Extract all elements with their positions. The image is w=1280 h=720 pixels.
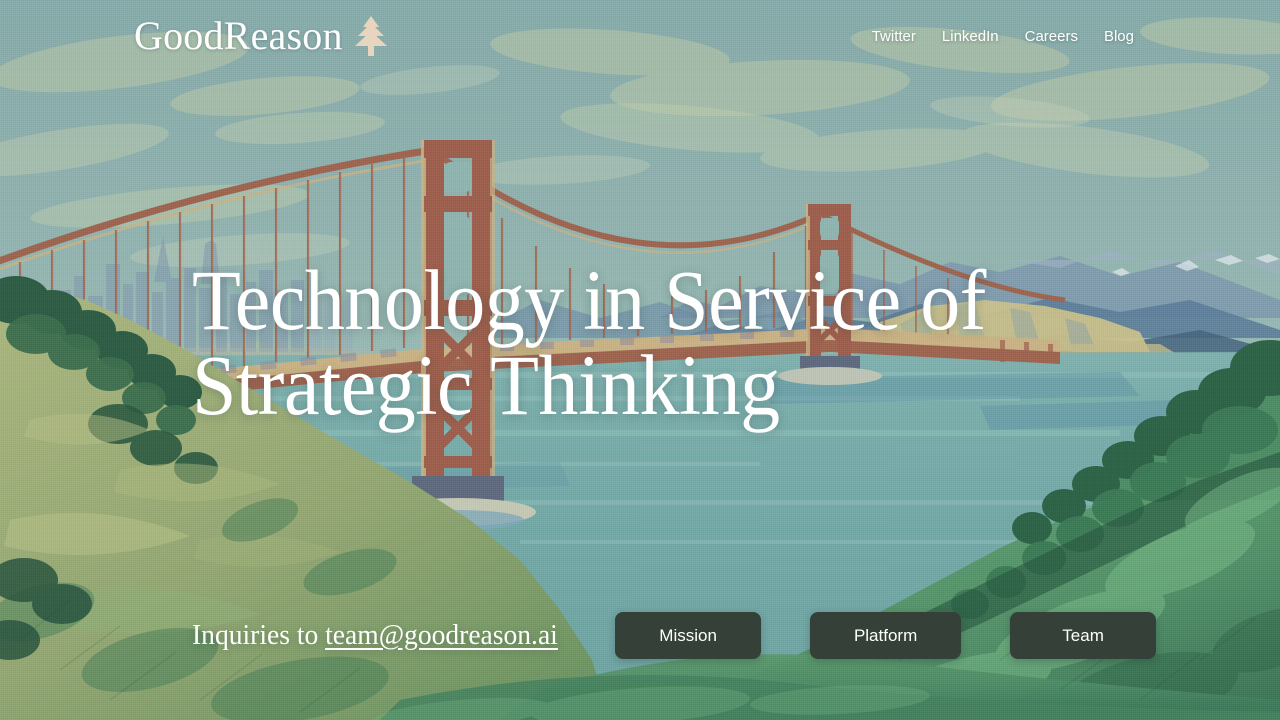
inquiries-prefix: Inquiries to (192, 619, 318, 651)
contact-email-link[interactable]: team@goodreason.ai (325, 619, 558, 651)
hero-actions-row: Inquiries to team@goodreason.ai Mission … (192, 612, 1280, 659)
mission-button[interactable]: Mission (615, 612, 761, 659)
team-button[interactable]: Team (1010, 612, 1156, 659)
nav-link-twitter[interactable]: Twitter (872, 29, 916, 44)
brand-logo[interactable]: GoodReason (134, 15, 389, 57)
site-header: GoodReason Twitter LinkedIn Careers Blog (0, 0, 1280, 72)
landing-page: GoodReason Twitter LinkedIn Careers Blog (0, 0, 1280, 720)
nav-link-linkedin[interactable]: LinkedIn (942, 29, 999, 44)
cta-button-group: Mission Platform Team (615, 612, 1156, 659)
hero-headline: Technology in Service of Strategic Think… (192, 258, 1046, 428)
nav-link-careers[interactable]: Careers (1025, 29, 1078, 44)
inquiries-line: Inquiries to team@goodreason.ai (192, 621, 558, 650)
hero-headline-line-1: Technology in Service of (192, 258, 986, 343)
nav-link-blog[interactable]: Blog (1104, 29, 1134, 44)
platform-button[interactable]: Platform (810, 612, 961, 659)
brand-name: GoodReason (134, 16, 343, 56)
hero-headline-line-2: Strategic Thinking (192, 343, 986, 428)
primary-nav: Twitter LinkedIn Careers Blog (872, 29, 1134, 44)
pine-tree-icon (353, 15, 389, 57)
